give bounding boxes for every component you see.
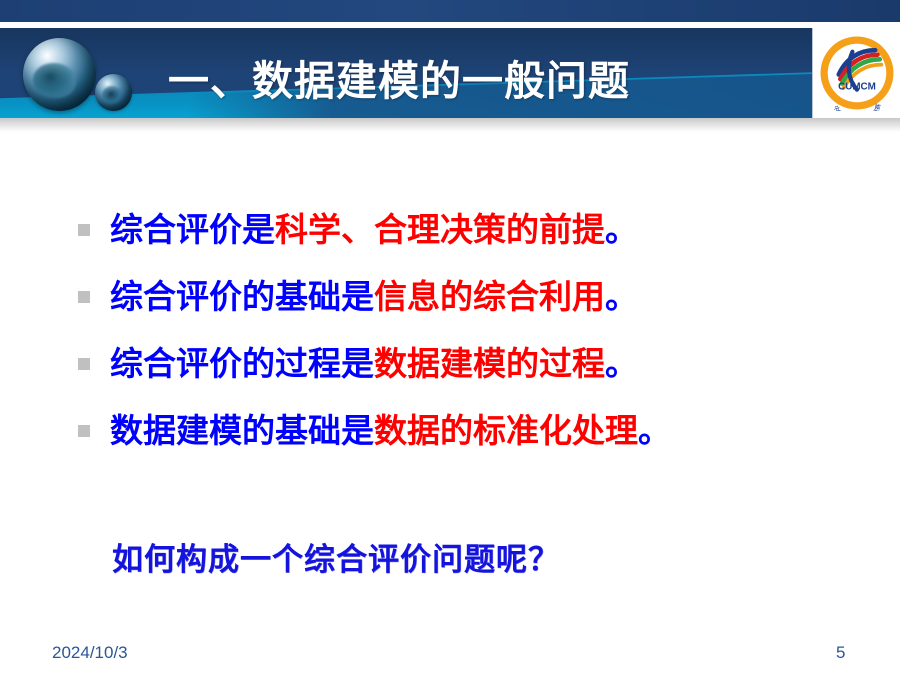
square-bullet-icon — [78, 425, 90, 437]
cumcm-logo-icon: CUMCM 中国大学生数学建模竞赛 — [819, 35, 895, 111]
square-bullet-icon — [78, 224, 90, 236]
bullet-segment-period: 。 — [605, 210, 638, 249]
header-separator — [0, 118, 900, 132]
bullet-segment: 综合评价的基础是 — [110, 277, 374, 316]
list-item: 综合评价是科学、合理决策的前提。 — [0, 196, 900, 263]
bullet-segment-highlight: 数据建模的过程 — [374, 344, 605, 383]
metallic-sphere-small-icon — [95, 74, 132, 111]
footer-date: 2024/10/3 — [52, 643, 128, 663]
bullet-list: 综合评价是科学、合理决策的前提。 综合评价的基础是信息的综合利用。 综合评价的过… — [0, 196, 900, 464]
bullet-segment: 综合评价的过程是 — [110, 344, 374, 383]
bullet-segment-period: 。 — [605, 344, 638, 383]
slide-canvas: 一、数据建模的一般问题 CUMCM 中国大学生数学建模竞赛 — [0, 0, 900, 675]
bullet-segment: 综合评价是 — [110, 210, 275, 249]
bullet-segment-highlight: 科学、合理决策的前提 — [275, 210, 605, 249]
list-item: 综合评价的过程是数据建模的过程。 — [0, 330, 900, 397]
square-bullet-icon — [78, 358, 90, 370]
bullet-text: 综合评价的过程是数据建模的过程。 — [110, 347, 638, 380]
closing-question: 如何构成一个综合评价问题呢？ — [112, 534, 560, 579]
list-item: 综合评价的基础是信息的综合利用。 — [0, 263, 900, 330]
bullet-segment-highlight: 数据的标准化处理 — [374, 411, 638, 450]
footer-page-number: 5 — [836, 643, 845, 663]
top-navy-bar — [0, 0, 900, 22]
bullet-segment-highlight: 信息的综合利用 — [374, 277, 605, 316]
bullet-text: 数据建模的基础是数据的标准化处理。 — [110, 414, 671, 447]
bullet-segment-period: 。 — [638, 411, 671, 450]
logo-panel: CUMCM 中国大学生数学建模竞赛 — [812, 28, 900, 118]
square-bullet-icon — [78, 291, 90, 303]
page-title: 一、数据建模的一般问题 — [168, 55, 630, 107]
metallic-sphere-large-icon — [23, 38, 96, 111]
bullet-segment-period: 。 — [605, 277, 638, 316]
list-item: 数据建模的基础是数据的标准化处理。 — [0, 397, 900, 464]
bullet-text: 综合评价的基础是信息的综合利用。 — [110, 280, 638, 313]
bullet-text: 综合评价是科学、合理决策的前提。 — [110, 213, 638, 246]
cumcm-acronym: CUMCM — [838, 82, 876, 93]
bullet-segment: 数据建模的基础是 — [110, 411, 374, 450]
